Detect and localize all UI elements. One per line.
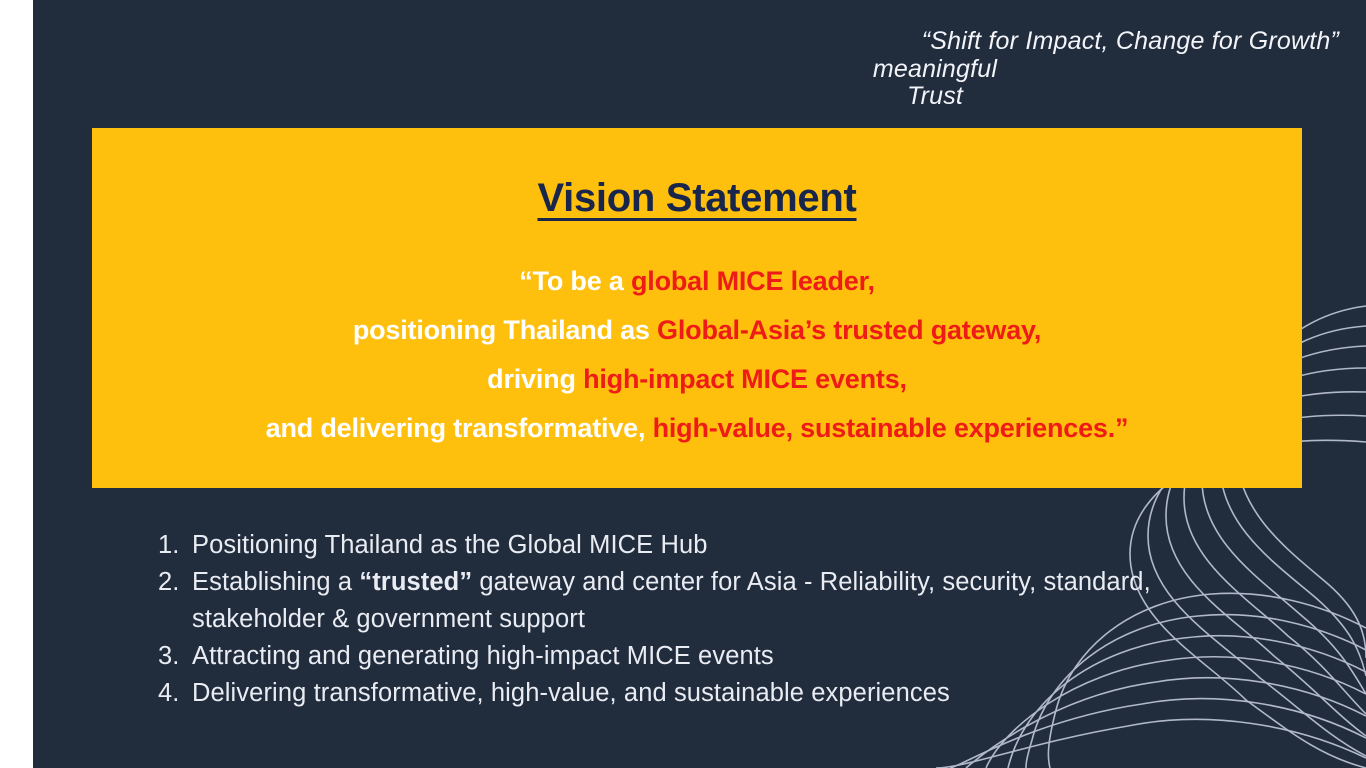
vision-highlight-text: high-impact MICE events — [583, 364, 899, 394]
list-item-segment: Positioning Thailand as the Global MICE … — [192, 531, 708, 559]
vision-highlight-text: high-value, sustainable experiences.” — [653, 413, 1129, 443]
vision-statement-line: and delivering transformative, high-valu… — [92, 404, 1302, 453]
vision-highlight-text: global MICE leader — [631, 266, 867, 296]
list-item-emphasis: “trusted” — [359, 568, 472, 596]
list-item-text: Establishing a “trusted” gateway and cen… — [192, 564, 1218, 638]
list-item-text: Delivering transformative, high-value, a… — [192, 675, 1218, 712]
list-item: 1.Positioning Thailand as the Global MIC… — [158, 527, 1218, 564]
vision-highlight-text: , — [900, 364, 907, 394]
vision-statement-line: positioning Thailand as Global-Asia’s tr… — [92, 306, 1302, 355]
list-item: 3.Attracting and generating high-impact … — [158, 638, 1218, 675]
vision-highlight-text: Global-Asia’s trusted gateway — [657, 315, 1034, 345]
tagline-line-2: meaningful — [699, 56, 1339, 82]
list-item-segment: Delivering transformative, high-value, a… — [192, 679, 950, 707]
vision-statement-card: Vision Statement “To be a global MICE le… — [92, 128, 1302, 488]
vision-statement-line: driving high-impact MICE events, — [92, 355, 1302, 404]
vision-statement-body: “To be a global MICE leader,positioning … — [92, 257, 1302, 453]
slide-canvas: “Shift for Impact, Change for Growth” me… — [33, 0, 1366, 768]
list-item-number: 2. — [158, 564, 192, 601]
tagline-line-3: Trust — [699, 83, 1339, 109]
vision-highlight-text: , — [1034, 315, 1041, 345]
list-item: 4.Delivering transformative, high-value,… — [158, 675, 1218, 712]
list-item-number: 3. — [158, 638, 192, 675]
list-item-text: Attracting and generating high-impact MI… — [192, 638, 1218, 675]
vision-statement-title: Vision Statement — [92, 176, 1302, 221]
vision-plain-text: and delivering transformative, — [266, 413, 653, 443]
list-item-segment: Establishing a — [192, 568, 359, 596]
list-item: 2.Establishing a “trusted” gateway and c… — [158, 564, 1218, 638]
vision-plain-text: positioning Thailand as — [353, 315, 657, 345]
key-points-list: 1.Positioning Thailand as the Global MIC… — [158, 527, 1218, 712]
list-item-number: 4. — [158, 675, 192, 712]
slide-root: “Shift for Impact, Change for Growth” me… — [0, 0, 1366, 768]
vision-plain-text: driving — [487, 364, 583, 394]
list-item-number: 1. — [158, 527, 192, 564]
list-item-segment: Attracting and generating high-impact MI… — [192, 642, 774, 670]
vision-highlight-text: , — [867, 266, 874, 296]
header-tagline: “Shift for Impact, Change for Growth” me… — [699, 28, 1339, 109]
list-item-text: Positioning Thailand as the Global MICE … — [192, 527, 1218, 564]
vision-statement-line: “To be a global MICE leader, — [92, 257, 1302, 306]
tagline-line-1: “Shift for Impact, Change for Growth” — [922, 27, 1339, 55]
vision-plain-text: “To be a — [519, 266, 631, 296]
